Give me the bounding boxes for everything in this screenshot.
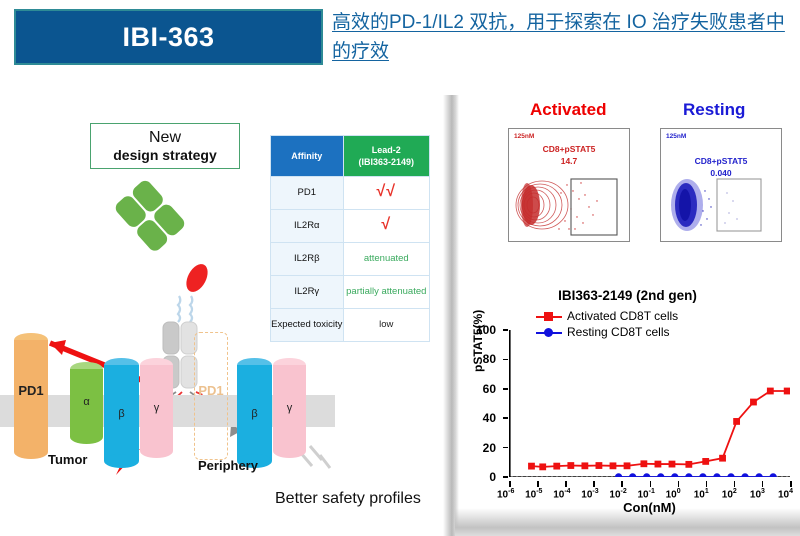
chart-datapoint (669, 461, 676, 468)
chart-x-tick-mark (734, 481, 736, 487)
chart-datapoint (567, 462, 574, 469)
chart-x-tick-label: 100 (666, 488, 681, 500)
table-cell-value: low (343, 309, 429, 342)
table-header-lead-line1: Lead-2 (344, 144, 429, 156)
chart-y-tick-mark (503, 476, 508, 478)
tumor-label: Tumor (48, 452, 87, 467)
chart-datapoint (539, 463, 546, 470)
chart-datapoint (528, 463, 535, 470)
chart-x-tick-mark (593, 481, 595, 487)
chart-y-tick-label: 0 (466, 472, 496, 482)
chart-datapoint (727, 473, 734, 477)
chart-axes (510, 330, 790, 477)
slide-subtitle: 高效的PD-1/IL2 双抗，用于探索在 IO 治疗失败患者中的疗效 (332, 8, 790, 66)
chart-y-tick-mark (503, 329, 508, 331)
table-row: Expected toxicitylow (271, 309, 430, 342)
chart-datapoint (685, 461, 692, 468)
flow-panel-title-resting: Resting (683, 100, 745, 120)
chart-x-tick-label: 10-6 (497, 488, 514, 500)
chart-x-axis-label: Con(nM) (509, 500, 790, 515)
table-cell-value: attenuated (343, 243, 429, 276)
receptor-il2ra: α (70, 362, 103, 444)
il2rb-label: β (104, 408, 139, 420)
table-cell-label: PD1 (271, 177, 344, 210)
linker-left (178, 296, 180, 322)
legend-item-activated: Activated CD8T cells (536, 308, 678, 324)
flow-plot-activated: 125nM CD8+pSTAT5 14.7 (508, 128, 630, 242)
chart-x-tick-mark (706, 481, 708, 487)
chart-line-0 (531, 391, 787, 467)
chart-y-tick-mark (503, 388, 508, 390)
periphery-label: Periphery (198, 458, 258, 473)
title-box: IBI-363 (14, 9, 323, 65)
receptor-il2rb: β (104, 358, 139, 468)
il2rg-periphery-label: γ (273, 402, 306, 414)
chart-x-tick-mark (678, 481, 680, 487)
table-header-row: Affinity Lead-2 (IBI363-2149) (271, 136, 430, 177)
chart-plot-area (509, 330, 790, 477)
linker-right (190, 296, 192, 322)
gate-box-resting (717, 179, 761, 231)
receptor-il2rb-periphery: β (237, 358, 272, 468)
chart-datapoint (685, 473, 692, 477)
chart-datapoint (767, 388, 774, 395)
legend-label-activated: Activated CD8T cells (567, 309, 678, 323)
affinity-table: Affinity Lead-2 (IBI363-2149) PD1√√IL2Rα… (270, 135, 430, 342)
receptor-pd1-periphery: PD1 (194, 332, 228, 460)
table-cell-value: partially attenuated (343, 276, 429, 309)
safety-note: Better safety profiles (275, 490, 421, 508)
chart-y-tick-label: 60 (466, 384, 496, 394)
chart-x-tick-mark (621, 481, 623, 487)
chart-datapoint (624, 462, 631, 469)
il2rb-periphery-label: β (237, 408, 272, 420)
chart-datapoint (640, 460, 647, 467)
chart-datapoint (629, 473, 636, 477)
chart-datapoint (610, 462, 617, 469)
table-row: IL2Rα√ (271, 210, 430, 243)
il2ra-label: α (70, 396, 103, 408)
chart-datapoint (553, 463, 560, 470)
il2-domain-red (182, 261, 212, 296)
chart-datapoint (769, 473, 776, 477)
receptor-pd1-tumor: PD1 (14, 333, 48, 459)
table-header-lead: Lead-2 (IBI363-2149) (343, 136, 429, 177)
slide-header: IBI-363 高效的PD-1/IL2 双抗，用于探索在 IO 治疗失败患者中的… (0, 0, 800, 88)
table-cell-label: Expected toxicity (271, 309, 344, 342)
receptor-il2rg-periphery: γ (273, 358, 306, 458)
table-header-affinity: Affinity (271, 136, 344, 177)
flow-scatter-resting (661, 129, 781, 241)
chart-x-tick-mark (762, 481, 764, 487)
flow-scatter-activated (509, 129, 629, 241)
chart-x-axis-ticks: 10-610-510-410-310-210-1100101102103104 (509, 481, 790, 496)
chart-datapoint (755, 473, 762, 477)
chart-datapoint (596, 462, 603, 469)
chart-datapoint (733, 418, 740, 425)
pd1-periphery-label: PD1 (195, 383, 227, 398)
chart-datapoint (719, 455, 726, 462)
chart-x-tick-label: 10-3 (581, 488, 598, 500)
chart-x-tick-label: 10-2 (609, 488, 626, 500)
panel-left-shadow (443, 95, 459, 536)
table-cell-label: IL2Rα (271, 210, 344, 243)
chart-x-tick-mark (790, 481, 792, 487)
table-cell-value: √ (343, 210, 429, 243)
chart-y-tick-label: 40 (466, 413, 496, 423)
gate-box-activated (571, 179, 617, 235)
chart-datapoint (750, 399, 757, 406)
chart-datapoint (699, 473, 706, 477)
chart-datapoint (643, 473, 650, 477)
table-cell-value: √√ (343, 177, 429, 210)
chart-datapoint (671, 473, 678, 477)
chart-datapoint (702, 458, 709, 465)
flow-panel-title-activated: Activated (530, 100, 607, 120)
table-row: IL2Rβattenuated (271, 243, 430, 276)
chart-datapoint (655, 461, 662, 468)
receptor-il2rg: γ (140, 358, 173, 458)
chart-x-tick-mark (565, 481, 567, 487)
table-cell-label: IL2Rγ (271, 276, 344, 309)
legend-marker-activated (536, 311, 562, 321)
table-cell-label: IL2Rβ (271, 243, 344, 276)
chart-datapoint (615, 473, 622, 477)
table-row: IL2Rγpartially attenuated (271, 276, 430, 309)
chart-x-tick-label: 10-1 (638, 488, 655, 500)
pd1-tumor-label: PD1 (14, 383, 48, 398)
fab-arms-green (113, 178, 187, 254)
chart-datapoint (713, 473, 720, 477)
chart-x-tick-label: 10-5 (525, 488, 542, 500)
chart-x-tick-label: 103 (750, 488, 765, 500)
chart-datapoint (581, 462, 588, 469)
table-header-lead-line2: (IBI363-2149) (344, 156, 429, 168)
chart-y-tick-mark (503, 417, 508, 419)
chart-y-tick-mark (503, 447, 508, 449)
chart-datapoint (784, 388, 790, 395)
chart-x-tick-label: 104 (778, 488, 793, 500)
table-row: PD1√√ (271, 177, 430, 210)
chart-x-tick-mark (537, 481, 539, 487)
chart-y-tick-mark (503, 359, 508, 361)
chart-title: IBI363-2149 (2nd gen) (455, 288, 800, 303)
flow-plot-resting: 125nM CD8+pSTAT5 0.040 (660, 128, 782, 242)
page-title: IBI-363 (122, 22, 214, 53)
chart-x-tick-mark (650, 481, 652, 487)
chart-datapoint (657, 473, 664, 477)
chart-x-tick-label: 101 (694, 488, 709, 500)
chart-x-tick-label: 102 (722, 488, 737, 500)
chart-x-tick-mark (509, 481, 511, 487)
chart-y-tick-label: 100 (466, 325, 496, 335)
il2rg-label: γ (140, 402, 173, 414)
chart-datapoint (741, 473, 748, 477)
chart-y-tick-label: 20 (466, 443, 496, 453)
chart-x-tick-label: 10-4 (553, 488, 570, 500)
chart-svg (509, 330, 790, 477)
chart-y-tick-label: 80 (466, 354, 496, 364)
